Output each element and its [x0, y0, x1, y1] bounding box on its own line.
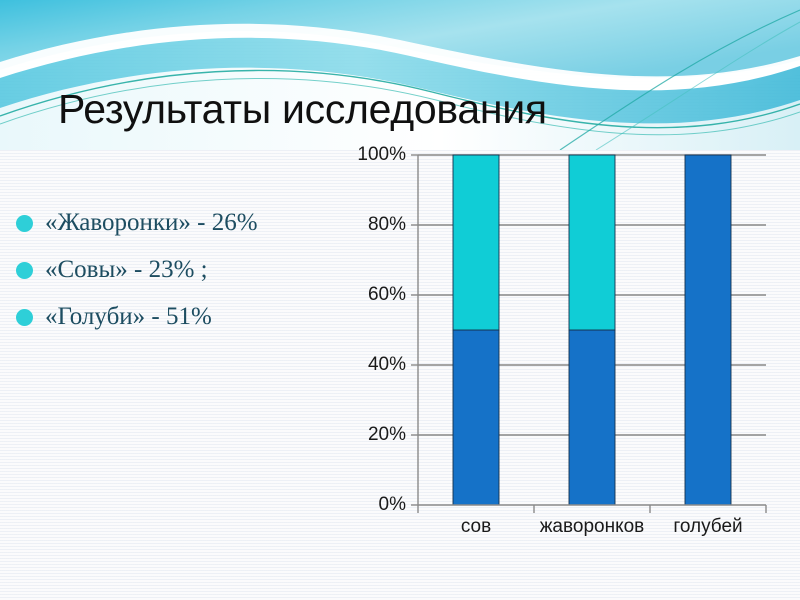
bar-segment[interactable] [569, 330, 615, 505]
bar-segment[interactable] [685, 155, 731, 505]
y-axis-tick-label: 60% [368, 284, 406, 305]
list-item: «Голуби» - 51% [12, 294, 342, 340]
wave-line-teal-4 [596, 22, 800, 150]
y-axis-tick-label: 0% [379, 494, 407, 515]
bullet-circle-icon [16, 215, 33, 232]
bullet-circle-icon [16, 262, 33, 279]
x-axis-tick-label: сов [461, 516, 491, 537]
slide-canvas: Результаты исследования «Жаворонки» - 26… [0, 0, 800, 600]
wave-shape-white [0, 24, 800, 93]
y-axis-tick-label: 80% [368, 214, 406, 235]
bullet-list: «Жаворонки» - 26% «Совы» - 23% ; «Голуби… [12, 200, 342, 341]
list-item: «Совы» - 23% ; [12, 247, 342, 293]
bullet-item-label: «Жаворонки» - 26% [45, 209, 258, 237]
x-axis-tick-label: голубей [673, 516, 742, 537]
bar-segment[interactable] [453, 155, 499, 330]
page-title: Результаты исследования [58, 85, 547, 133]
stacked-bar-chart: 0%20%40%60%80%100% совжаворонковголубей [340, 135, 790, 550]
bullet-item-label: «Голуби» - 51% [45, 303, 212, 331]
y-axis-tick-label: 40% [368, 354, 406, 375]
bullet-circle-icon [16, 309, 33, 326]
x-axis-tick-label: жаворонков [540, 516, 645, 537]
chart-bars [453, 155, 731, 505]
y-axis-tick-label: 100% [357, 144, 406, 165]
chart-y-axis: 0%20%40%60%80%100% [357, 144, 418, 515]
chart-x-axis: совжаворонковголубей [418, 505, 766, 537]
wave-shape-sky [0, 0, 800, 78]
y-axis-tick-label: 20% [368, 424, 406, 445]
wave-line-teal-3 [560, 10, 800, 150]
bullet-item-label: «Совы» - 23% ; [45, 256, 208, 284]
bar-segment[interactable] [569, 155, 615, 330]
bar-segment[interactable] [453, 330, 499, 505]
chart-svg: 0%20%40%60%80%100% совжаворонковголубей [340, 135, 790, 550]
list-item: «Жаворонки» - 26% [12, 200, 342, 246]
